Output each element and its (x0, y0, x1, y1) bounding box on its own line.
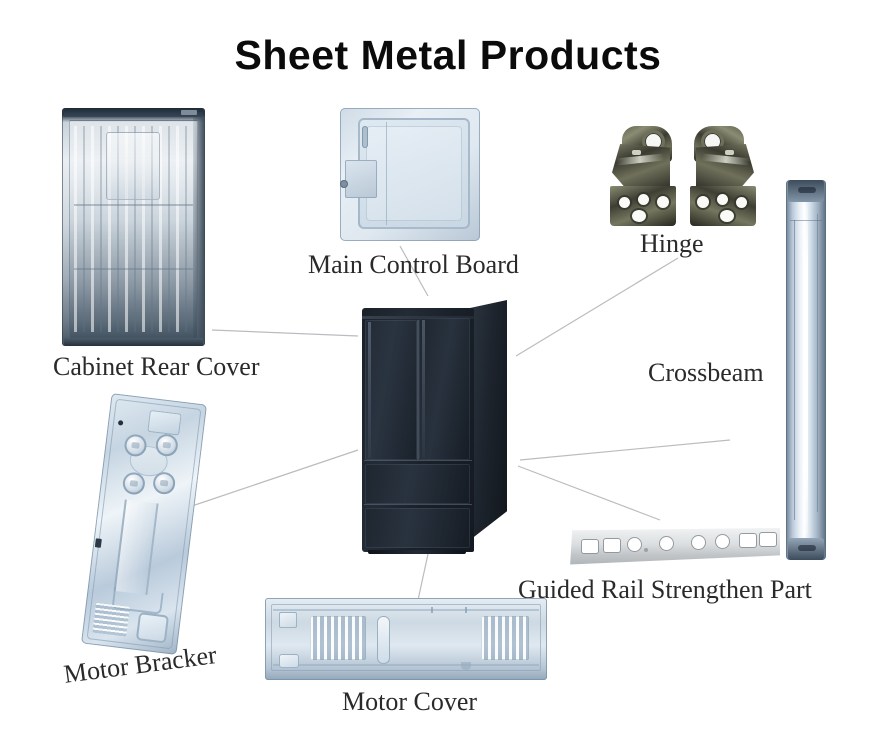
motor-cover-oval-slot (377, 616, 390, 664)
motor-cover-top-ridge (273, 609, 539, 611)
hinge-notch (725, 150, 734, 155)
motor-cover-tick (431, 607, 433, 613)
refrigerator-base (368, 550, 466, 554)
label-cabinet-rear-cover: Cabinet Rear Cover (53, 352, 260, 382)
guided-rail-round-hole (660, 537, 673, 550)
label-guided-rail-strengthen-part: Guided Rail Strengthen Part (518, 575, 812, 605)
crossbeam-upper-lip (790, 220, 822, 221)
motor-bracker-square-cutout (136, 612, 169, 643)
guided-rail-round-hole (692, 536, 705, 549)
refrigerator-seam-lower (364, 504, 472, 505)
refrigerator-door-highlight-right (422, 320, 425, 458)
hinge-bolt-hole (619, 197, 630, 208)
crossbeam-channel (786, 180, 826, 560)
hinge-mount-plate (690, 186, 756, 226)
control-board-inner-face (366, 126, 462, 221)
connector-cabinet-rear-cover (212, 330, 358, 336)
motor-bracker-vent-slots (92, 603, 129, 637)
refrigerator-carcass (362, 308, 474, 552)
motor-cover-bottom-ridge (273, 664, 539, 666)
hinge-web (612, 144, 670, 190)
motor-cover-louver-group-right (481, 616, 529, 660)
hinge-bolt-hole (697, 196, 709, 208)
cabinet-cross-rib-upper (74, 204, 193, 206)
connector-crossbeam (520, 440, 730, 460)
hinge-left (608, 126, 678, 226)
control-board-vent-slot (362, 126, 368, 148)
refrigerator-door-gap (417, 320, 419, 460)
motor-cover-notch (461, 662, 471, 670)
guided-rail-round-hole (628, 538, 641, 551)
poster-canvas: Sheet Metal Products Cabinet Rear Cover (0, 0, 896, 732)
motor-bracker-side-tab (95, 538, 102, 548)
part-image-main-control-board[interactable] (340, 108, 480, 241)
part-image-guided-rail-strengthen-part[interactable] (568, 528, 780, 566)
motor-cover-corner-cutout (279, 654, 299, 668)
control-board-plate (340, 108, 480, 241)
crossbeam-bottom-cap (788, 538, 824, 560)
control-board-side-tab (345, 160, 377, 198)
motor-cover-panel (265, 598, 547, 680)
hinge-mount-plate (610, 186, 676, 226)
hinge-bolt-hole (736, 197, 747, 208)
connector-guided-rail (518, 466, 660, 520)
guided-rail-round-hole (716, 535, 729, 548)
motor-cover-tick (465, 607, 467, 613)
label-main-control-board: Main Control Board (308, 250, 519, 280)
hinge-bolt-hole (638, 194, 649, 205)
guided-rail-square-hole (760, 533, 776, 546)
part-image-motor-cover[interactable] (265, 598, 547, 680)
crossbeam-top-cap (788, 180, 824, 202)
connector-motor-cover (418, 554, 428, 600)
hinge-right (688, 126, 758, 226)
label-crossbeam: Crossbeam (648, 358, 764, 388)
guided-rail-square-hole (740, 534, 756, 547)
cabinet-cross-rib-lower (74, 268, 193, 270)
crossbeam-specular-highlight (803, 206, 808, 534)
hinge-notch (632, 150, 641, 155)
hinge-bolt-hole (720, 210, 734, 222)
motor-bracker-flat-pad (147, 410, 181, 436)
refrigerator-door-highlight-left (368, 322, 371, 458)
control-board-pin (340, 180, 348, 188)
guided-rail-square-hole (582, 540, 598, 553)
cabinet-recess-pocket (106, 132, 160, 200)
hinge-bolt-hole (632, 210, 646, 222)
label-hinge: Hinge (640, 229, 704, 259)
part-image-crossbeam[interactable] (786, 180, 826, 560)
label-motor-cover: Motor Cover (342, 687, 477, 717)
hinge-bolt-hole (717, 194, 728, 205)
cabinet-rear-cover-panel (62, 108, 205, 346)
refrigerator-door-right (419, 318, 470, 460)
motor-cover-corner-emboss (279, 612, 297, 628)
guided-rail-dimple (644, 548, 648, 552)
guided-rail-strip (568, 528, 780, 566)
refrigerator-drawer-lower (365, 508, 470, 548)
control-board-edge-crease (386, 122, 387, 225)
part-image-cabinet-rear-cover[interactable] (62, 108, 205, 346)
refrigerator-door-left (365, 320, 417, 460)
connector-hinge (516, 258, 678, 356)
center-product-refrigerator[interactable] (362, 300, 507, 552)
crossbeam-edge-left (794, 220, 795, 520)
hinge-bolt-hole (657, 196, 669, 208)
connector-motor-bracker (186, 450, 358, 508)
part-image-hinge[interactable] (608, 126, 760, 226)
refrigerator-drawer-upper (365, 464, 470, 504)
guided-rail-square-hole (604, 539, 620, 552)
refrigerator-seam-upper (364, 460, 472, 461)
cabinet-bottom-bracket (64, 338, 203, 346)
refrigerator-side-panel (470, 300, 507, 540)
motor-cover-louver-group-left (310, 616, 366, 660)
cabinet-top-bracket (64, 108, 203, 117)
crossbeam-edge-right (817, 214, 818, 512)
